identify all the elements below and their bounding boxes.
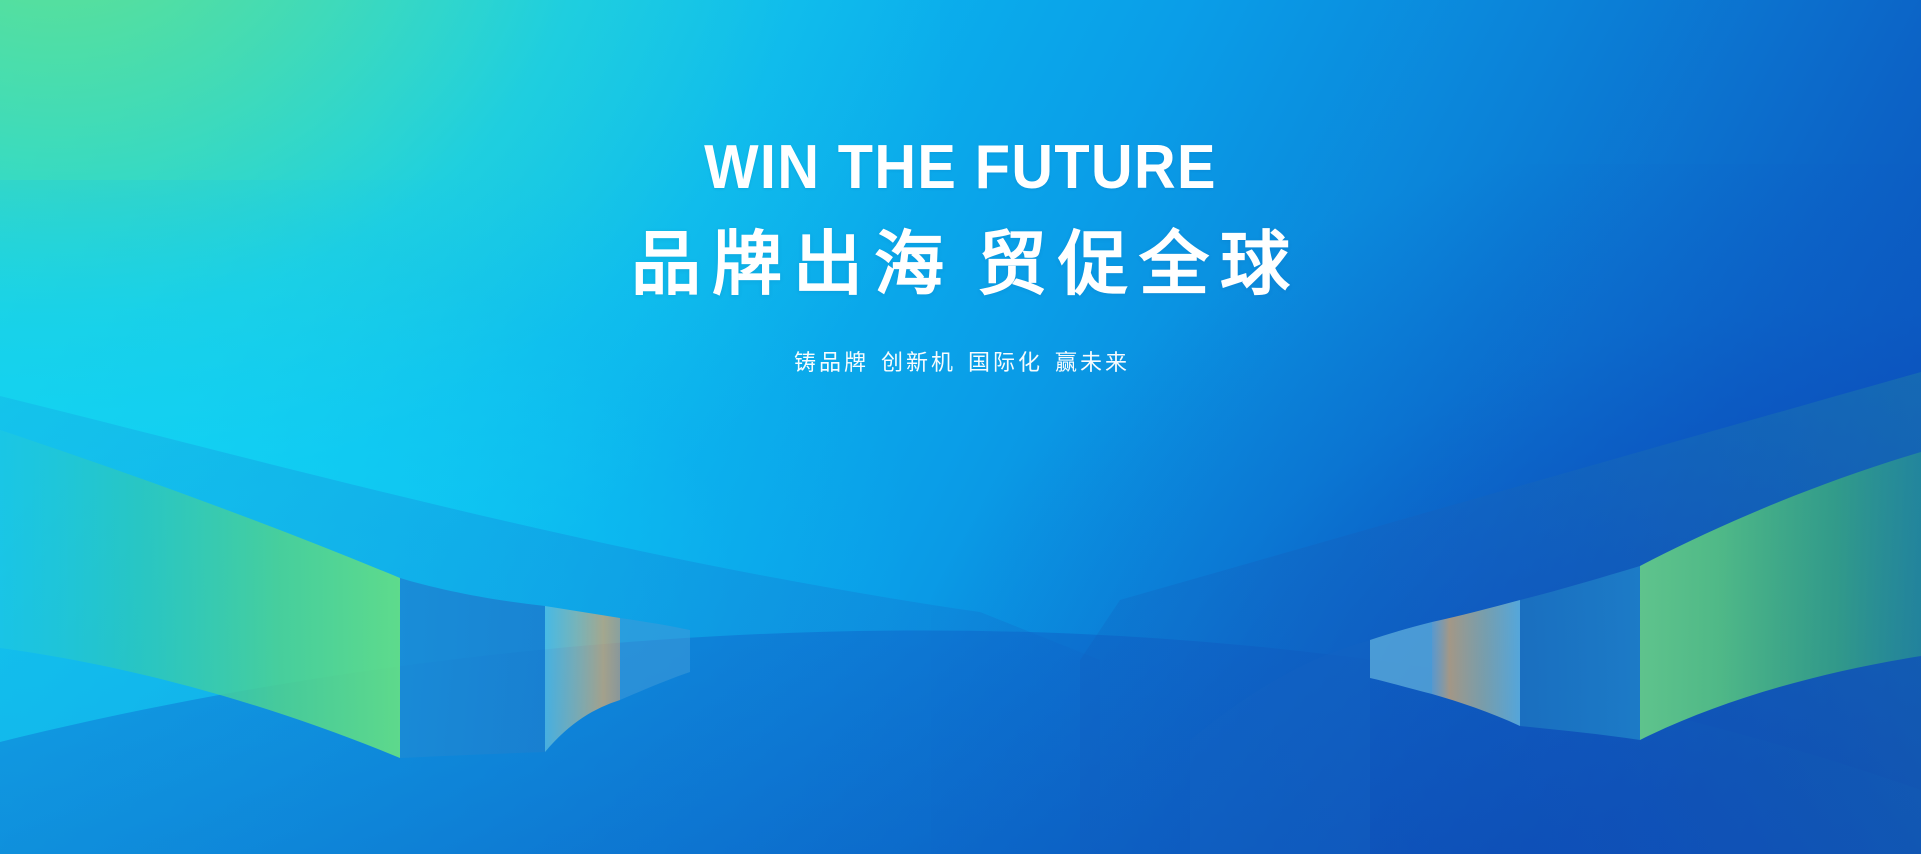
headline-english: WIN THE FUTURE (67, 137, 1854, 199)
subtitle-part4: 赢未来 (1055, 350, 1130, 375)
subtitle-part2: 创新机 (881, 350, 956, 375)
subtitle-part1: 铸品牌 (794, 350, 869, 375)
subtitle-part3: 国际化 (968, 350, 1043, 375)
decorative-shapes-layer (0, 0, 1921, 854)
promo-banner: WIN THE FUTURE 品牌出海贸促全球 铸品牌创新机国际化赢未来 (0, 0, 1921, 854)
headline-chinese: 品牌出海贸促全球 (0, 229, 1921, 299)
banner-text-block: WIN THE FUTURE 品牌出海贸促全球 铸品牌创新机国际化赢未来 (0, 137, 1921, 374)
headline-chinese-part2: 贸促全球 (977, 225, 1301, 303)
banner-subtitle: 铸品牌创新机国际化赢未来 (0, 352, 1921, 374)
left-horn-body (400, 578, 545, 758)
headline-chinese-part1: 品牌出海 (631, 225, 955, 303)
